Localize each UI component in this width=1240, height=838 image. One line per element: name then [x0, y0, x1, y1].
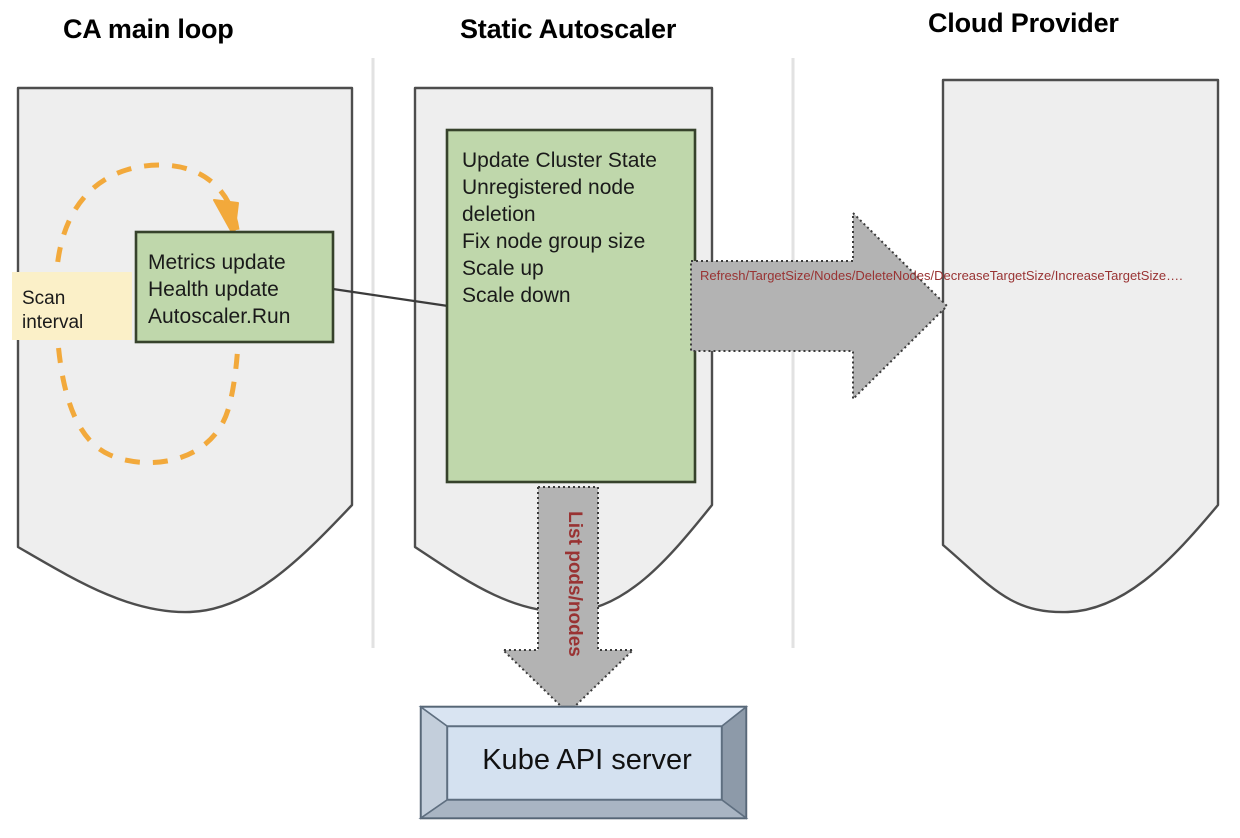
autoscaler-steps-label: Update Cluster State Unregistered node d…	[462, 147, 697, 309]
lane-title-static-autoscaler: Static Autoscaler	[460, 14, 676, 45]
scan-interval-label: Scan interval	[22, 287, 132, 335]
cloud-provider-api-arrow-label: Refresh/TargetSize/Nodes/DeleteNodes/Dec…	[700, 268, 898, 284]
diagram-vector-layer	[0, 0, 1240, 838]
cloud-provider-api-arrow	[691, 213, 947, 399]
lane-title-ca-main-loop: CA main loop	[63, 14, 234, 45]
kube-api-server-label: Kube API server	[447, 744, 727, 777]
metrics-update-label: Metrics update Health update Autoscaler.…	[148, 249, 333, 330]
diagram-canvas: CA main loop Static Autoscaler Cloud Pro…	[0, 0, 1240, 838]
lane-shape-cloud-provider	[943, 80, 1218, 612]
list-pods-nodes-arrow-label: List pods/nodes	[563, 504, 585, 664]
lane-title-cloud-provider: Cloud Provider	[928, 8, 1119, 39]
